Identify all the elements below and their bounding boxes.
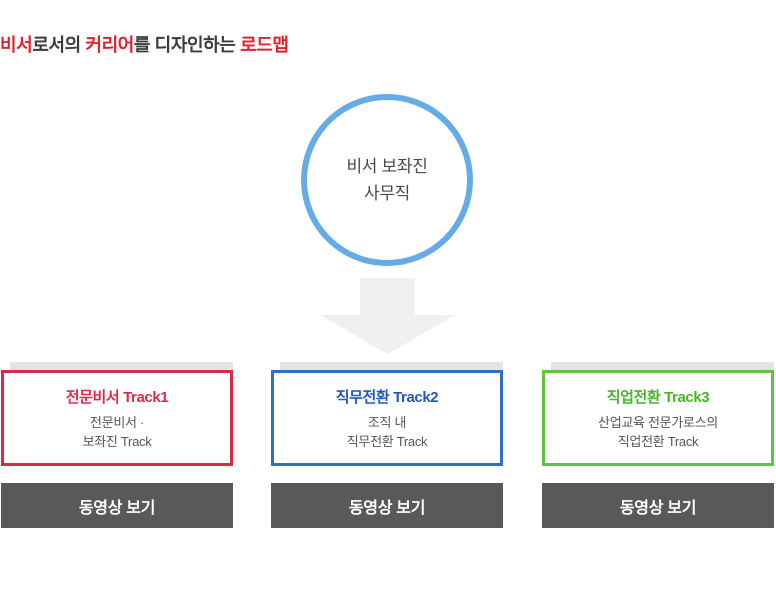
track-card-2[interactable]: 직무전환 Track2 조직 내 직무전환 Track (271, 362, 503, 466)
hub-label: 비서 보좌진 사무직 (346, 153, 427, 207)
watch-video-button-label: 동영상 보기 (349, 494, 425, 518)
page-title-segment-5: 로드맵 (240, 35, 288, 55)
track-card-description-line-1: 전문비서 · (83, 413, 152, 432)
track-card-title: 전문비서 Track1 (66, 386, 169, 407)
page-title-segment-4: 를 디자인하는 (134, 35, 240, 55)
page-title-segment-1: 비서 (0, 35, 32, 55)
watch-video-button-label: 동영상 보기 (79, 494, 155, 518)
track-card-description-line-2: 직업전환 Track (598, 432, 718, 451)
page-title: 비서로서의 커리어를 디자인하는 로드맵 (0, 31, 289, 57)
track-card-body: 직무전환 Track2 조직 내 직무전환 Track (271, 370, 503, 466)
watch-video-button-track2[interactable]: 동영상 보기 (271, 483, 503, 528)
arrow-down-icon (320, 278, 455, 354)
track-card-3[interactable]: 직업전환 Track3 산업교육 전문가로스의 직업전환 Track (542, 362, 774, 466)
track-card-description-line-1: 산업교육 전문가로스의 (598, 413, 718, 432)
hub-circle: 비서 보좌진 사무직 (301, 94, 473, 266)
track-card-body: 직업전환 Track3 산업교육 전문가로스의 직업전환 Track (542, 370, 774, 466)
hub-node: 비서 보좌진 사무직 (301, 94, 473, 266)
track-card-body: 전문비서 Track1 전문비서 · 보좌진 Track (1, 370, 233, 466)
track-card-description-line-2: 직무전환 Track (347, 432, 427, 451)
track-card-1[interactable]: 전문비서 Track1 전문비서 · 보좌진 Track (1, 362, 233, 466)
track-card-description: 전문비서 · 보좌진 Track (83, 413, 152, 451)
track-card-description-line-2: 보좌진 Track (83, 432, 152, 451)
track-card-title: 직업전환 Track3 (607, 386, 710, 407)
track-card-description-line-1: 조직 내 (347, 413, 427, 432)
watch-video-button-track1[interactable]: 동영상 보기 (1, 483, 233, 528)
track-card-description: 조직 내 직무전환 Track (347, 413, 427, 451)
track-card-title: 직무전환 Track2 (336, 386, 439, 407)
track-card-description: 산업교육 전문가로스의 직업전환 Track (598, 413, 718, 451)
watch-video-button-track3[interactable]: 동영상 보기 (542, 483, 774, 528)
hub-label-line-2: 사무직 (346, 180, 427, 207)
page-title-segment-2: 로서의 (32, 35, 85, 55)
watch-video-button-label: 동영상 보기 (620, 494, 696, 518)
hub-label-line-1: 비서 보좌진 (346, 153, 427, 180)
page-title-segment-3: 커리어 (85, 35, 133, 55)
